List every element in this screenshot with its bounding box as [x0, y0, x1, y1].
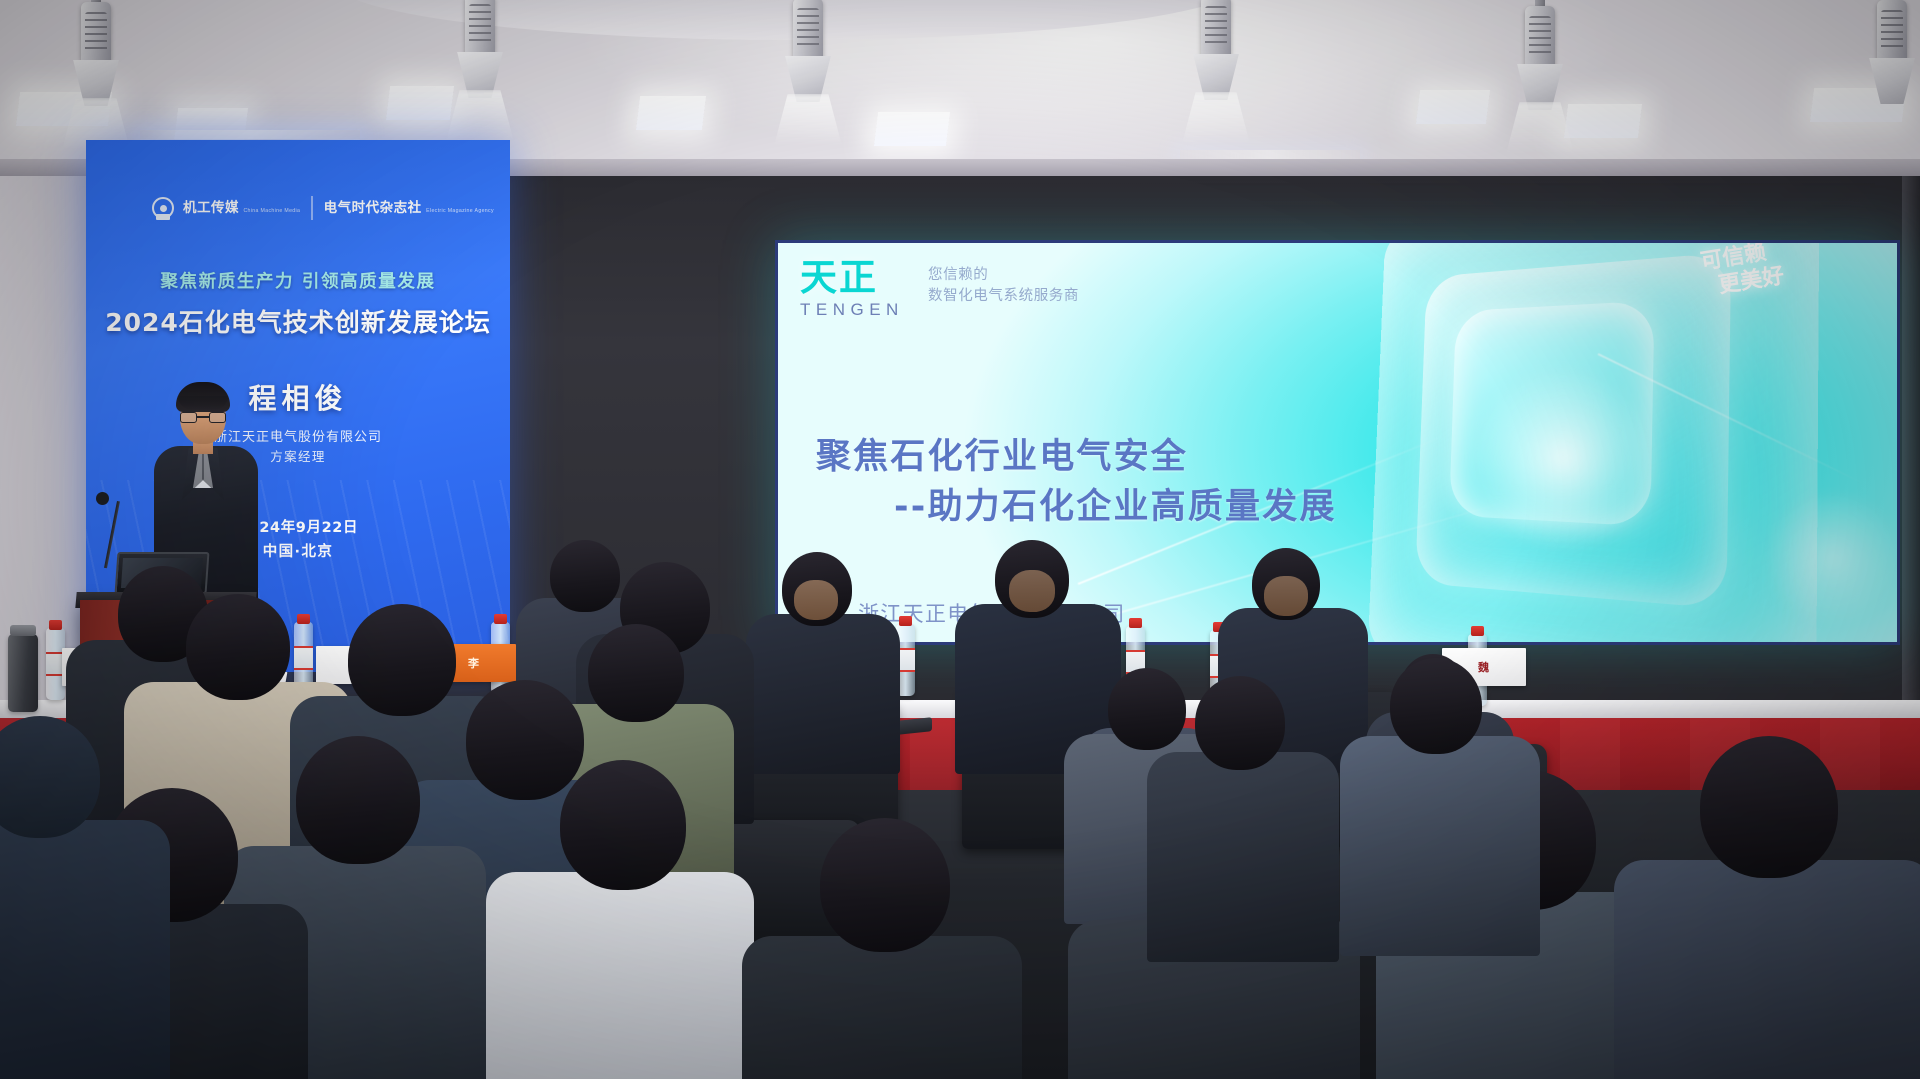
tengen-logo-en: TENGEN: [800, 300, 904, 320]
forum-logo-primary: 机工传媒 China Machine Media: [183, 200, 300, 216]
glasses-lens-right: [209, 412, 226, 423]
person-head: [1390, 658, 1482, 754]
forum-logo-partner: 电气时代杂志社 Electric Magazine Agency: [324, 200, 494, 216]
forum-logo-brand-en: China Machine Media: [243, 208, 300, 214]
presentation-title: 聚焦石化行业电气安全 --助力石化企业高质量发展: [816, 433, 1337, 532]
glasses-lens-left: [180, 412, 197, 423]
tengen-tagline-line1: 您信赖的: [928, 265, 1079, 286]
glasses-bridge: [197, 416, 209, 418]
wall-right-column: [1902, 176, 1920, 736]
person-head: [588, 624, 684, 722]
tengen-logo-cn: 天正: [800, 259, 904, 296]
panel-light: [874, 112, 950, 146]
person-head: [820, 818, 950, 952]
forum-title: 2024石化电气技术创新发展论坛: [86, 303, 510, 339]
person-head: [348, 604, 456, 716]
presentation-title-line1: 聚焦石化行业电气安全: [816, 437, 1188, 477]
bottle-cap: [297, 614, 310, 624]
machine-media-logo-icon: [152, 197, 174, 219]
person-head: [296, 736, 420, 864]
person-torso: [742, 936, 1022, 1079]
panel-light: [1416, 90, 1490, 124]
tengen-handwriting-slogan: 可信赖 更美好: [1699, 240, 1862, 340]
presentation-title-line2: --助力石化企业高质量发展: [894, 483, 1337, 533]
tengen-tagline-line2: 数智化电气系统服务商: [928, 286, 1079, 307]
forum-logo-divider: [311, 196, 312, 220]
podium-microphone: [96, 492, 109, 505]
speaker-glasses-icon: [180, 412, 226, 423]
thermos-lid: [10, 625, 36, 636]
thermos-flask: [8, 634, 38, 712]
person-head: [1195, 676, 1285, 770]
person-face: [1009, 570, 1055, 612]
person-torso: [1614, 860, 1920, 1079]
panel-light: [636, 96, 706, 130]
person-head: [560, 760, 686, 890]
spotlight-ribs: [797, 8, 819, 50]
speaker-role: 方案经理: [86, 446, 510, 465]
strip-light: [1180, 150, 1360, 159]
spotlight-beam: [1506, 102, 1574, 154]
bottle-cap: [49, 620, 62, 630]
person-torso: [746, 614, 900, 774]
person-face: [1264, 576, 1308, 616]
person-head: [550, 540, 620, 612]
bottle-label: [294, 646, 313, 670]
person-head: [1108, 668, 1186, 750]
spotlight-beam: [774, 94, 842, 146]
spotlight-beam: [1182, 92, 1250, 144]
right-projection-screen: 天正 TENGEN 您信赖的 数智化电气系统服务商 可信赖 更美好 聚焦石化行业…: [775, 240, 1900, 645]
spotlight-ribs: [1529, 16, 1551, 58]
bottle-cap: [899, 616, 912, 626]
person-torso: [0, 820, 170, 1079]
person-head: [1700, 736, 1838, 878]
speaker-hair: [176, 382, 230, 412]
bottle-cap: [494, 614, 507, 624]
spotlight-ribs: [1205, 6, 1227, 48]
person-head: [466, 680, 584, 800]
panel-light: [1564, 104, 1642, 138]
panel-light: [386, 86, 454, 120]
forum-subtitle: 聚焦新质生产力 引领高质量发展: [86, 268, 510, 293]
spotlight-ribs: [85, 12, 107, 54]
forum-logo-brand-cn: 机工传媒: [183, 200, 239, 215]
bottle-cap: [1129, 618, 1142, 628]
forum-date: 2024年9月22日: [86, 516, 510, 537]
tengen-tagline: 您信赖的 数智化电气系统服务商: [928, 265, 1079, 307]
strip-light: [140, 130, 360, 139]
person-torso: [486, 872, 754, 1079]
light-glow: [1468, 363, 1658, 553]
person-torso: [1340, 736, 1540, 956]
forum-logo: 机工传媒 China Machine Media 电气时代杂志社 Electri…: [152, 196, 494, 220]
spotlight-beam: [446, 90, 514, 142]
forum-logo-partner-en: Electric Magazine Agency: [426, 208, 494, 214]
spotlight-ribs: [469, 4, 491, 46]
bottle-cap: [1471, 626, 1484, 636]
light-glow: [1758, 493, 1900, 623]
speaker-name: 程相俊: [86, 377, 510, 417]
conference-hall-scene: 机工传媒 China Machine Media 电气时代杂志社 Electri…: [0, 0, 1920, 1079]
person-torso: [1147, 752, 1339, 962]
tengen-logo: 天正 TENGEN: [800, 259, 904, 320]
spotlight-ribs: [1881, 10, 1903, 52]
person-head: [186, 594, 290, 700]
person-face: [794, 580, 838, 620]
speaker-organization: 浙江天正电气股份有限公司: [86, 426, 510, 445]
forum-logo-partner-cn: 电气时代杂志社: [324, 200, 422, 215]
